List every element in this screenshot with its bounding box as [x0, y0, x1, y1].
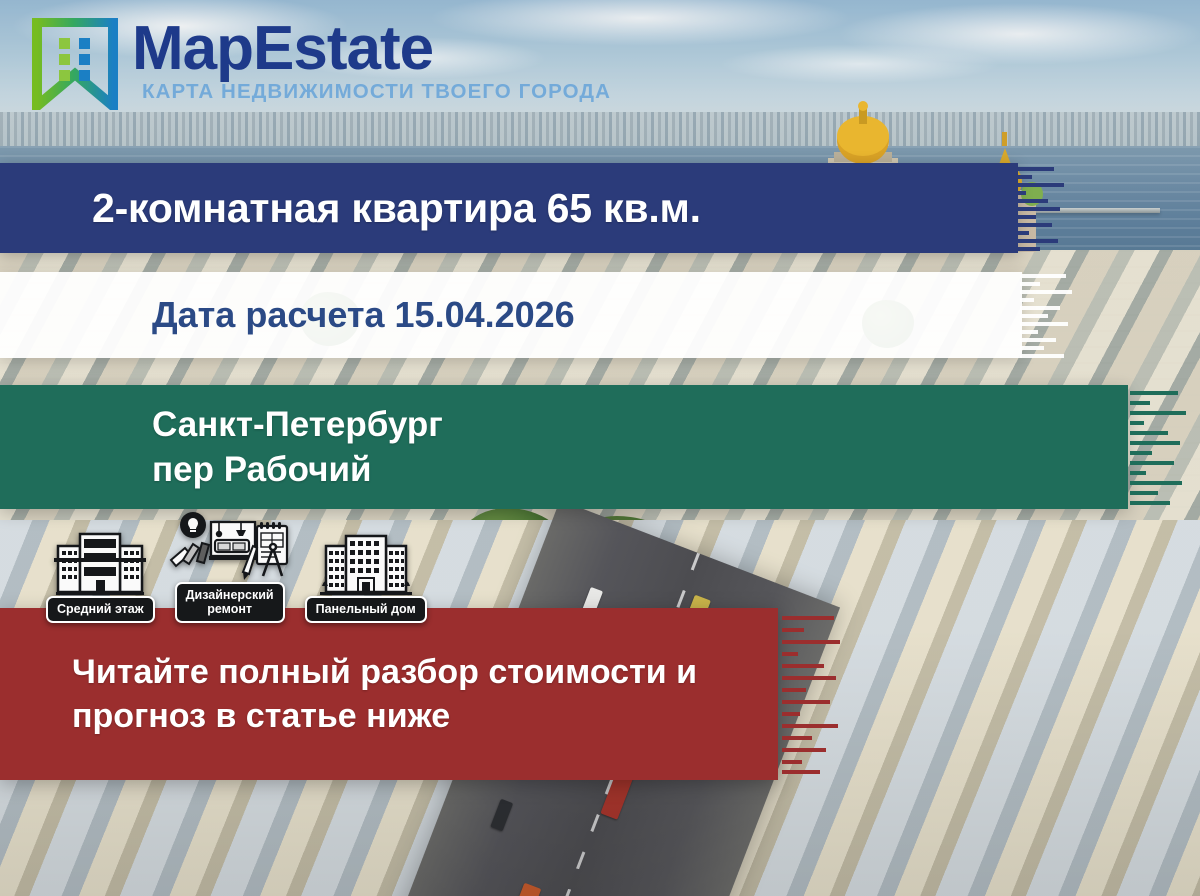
property-promo-poster: MapEstate КАРТА НЕДВИЖИМОСТИ ТВОЕГО ГОРО…: [0, 0, 1200, 896]
mid-floor-building-icon: [52, 528, 148, 600]
call-to-action-text: Читайте полный разбор стоимости и прогно…: [0, 650, 778, 738]
property-title: 2-комнатная квартира 65 кв.м.: [0, 185, 1018, 232]
brand-wordmark: MapEstate КАРТА НЕДВИЖИМОСТИ ТВОЕГО ГОРО…: [132, 18, 433, 79]
badge-mid-floor[interactable]: Средний этаж: [46, 528, 155, 623]
brand-name: MapEstate: [132, 20, 433, 79]
call-to-action-banner: Читайте полный разбор стоимости и прогно…: [0, 608, 778, 780]
badge-label: Панельный дом: [305, 596, 427, 623]
designer-renovation-icon: [169, 512, 291, 586]
badge-panel-building[interactable]: Панельный дом: [305, 528, 427, 623]
badge-label: Дизайнерский ремонт: [175, 582, 285, 623]
calculation-date: Дата расчета 15.04.2026: [0, 294, 1022, 336]
brand-name-estate: Estate: [253, 14, 433, 83]
calculation-date-banner: Дата расчета 15.04.2026: [0, 272, 1022, 358]
property-feature-badges: Средний этаж: [46, 512, 427, 623]
property-title-banner: 2-комнатная квартира 65 кв.м.: [0, 163, 1018, 253]
brand-name-map: Map: [132, 14, 253, 83]
badge-label: Средний этаж: [46, 596, 155, 623]
panel-building-icon: [318, 528, 414, 600]
brand-tagline: КАРТА НЕДВИЖИМОСТИ ТВОЕГО ГОРОДА: [142, 80, 611, 104]
location-banner: Санкт-Петербург пер Рабочий: [0, 385, 1128, 509]
badge-designer-renovation[interactable]: Дизайнерский ремонт: [169, 512, 291, 623]
location-street: пер Рабочий: [0, 447, 1128, 493]
brand-logo[interactable]: MapEstate КАРТА НЕДВИЖИМОСТИ ТВОЕГО ГОРО…: [32, 18, 433, 110]
location-city: Санкт-Петербург: [0, 402, 1128, 448]
bookmark-building-icon: [32, 18, 118, 110]
